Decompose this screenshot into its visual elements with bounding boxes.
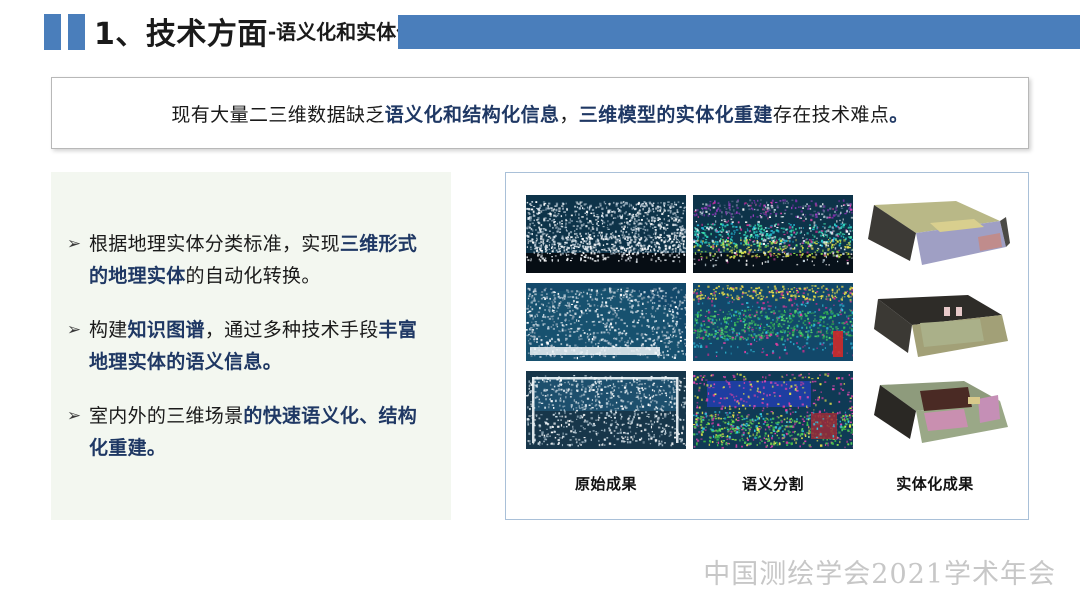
figure-thumb-entity-model xyxy=(860,195,1010,273)
bullet-arrow-icon: ➢ xyxy=(59,400,89,432)
title-accent-block-1 xyxy=(44,14,61,50)
bullet-arrow-icon: ➢ xyxy=(59,228,89,260)
figure-thumb-entity-model xyxy=(860,283,1010,361)
figure-caption-raw: 原始成果 xyxy=(526,473,686,494)
figure-caption-segmentation: 语义分割 xyxy=(693,473,853,494)
page-title-main: 1、技术方面 xyxy=(94,9,268,53)
bullet-text: 构建知识图谱，通过多种技术手段丰富地理实体的语义信息。 xyxy=(89,314,429,378)
figure-thumb-raw-pointcloud xyxy=(526,195,686,273)
page-title-sub: -语义化和实体化 xyxy=(268,16,416,47)
figure-panel: 原始成果 语义分割 实体化成果 xyxy=(505,172,1029,520)
figure-caption-row: 原始成果 语义分割 实体化成果 xyxy=(526,473,1010,494)
statement-segment-plain-2: ， xyxy=(559,104,578,126)
figure-thumb-entity-model xyxy=(860,371,1010,449)
slide-title-bar: 1、技术方面 -语义化和实体化 xyxy=(0,14,1080,50)
figure-thumb-raw-pointcloud xyxy=(526,371,686,449)
bullet-text: 室内外的三维场景的快速语义化、结构化重建。 xyxy=(89,400,429,464)
bullet-item: ➢根据地理实体分类标准，实现三维形式的地理实体的自动化转换。 xyxy=(59,228,429,292)
bullet-text: 根据地理实体分类标准，实现三维形式的地理实体的自动化转换。 xyxy=(89,228,429,292)
title-accent-block-2 xyxy=(68,14,85,50)
bullet-plain-segment: 室内外的三维场景 xyxy=(89,405,243,427)
figure-caption-entity: 实体化成果 xyxy=(860,473,1010,494)
figure-grid xyxy=(526,195,1010,449)
bullet-item: ➢室内外的三维场景的快速语义化、结构化重建。 xyxy=(59,400,429,464)
bullet-highlight-segment: 知识图谱 xyxy=(128,319,205,341)
statement-segment-highlight-2: 三维模型的实体化重建 xyxy=(579,104,773,126)
figure-thumb-raw-pointcloud xyxy=(526,283,686,361)
statement-segment-highlight-1: 语义化和结构化信息 xyxy=(385,104,560,126)
bullets-panel: ➢根据地理实体分类标准，实现三维形式的地理实体的自动化转换。➢构建知识图谱，通过… xyxy=(51,172,451,520)
bullet-plain-segment: 构建 xyxy=(89,319,128,341)
statement-segment-plain-1: 现有大量二三维数据缺乏 xyxy=(171,104,384,126)
statement-box: 现有大量二三维数据缺乏语义化和结构化信息，三维模型的实体化重建存在技术难点。 xyxy=(51,77,1029,149)
statement-text: 现有大量二三维数据缺乏语义化和结构化信息，三维模型的实体化重建存在技术难点。 xyxy=(171,100,908,127)
bullet-arrow-icon: ➢ xyxy=(59,314,89,346)
statement-segment-period: 。 xyxy=(889,104,908,126)
bullet-plain-segment: 根据地理实体分类标准，实现 xyxy=(89,233,340,255)
footer-conference-label: 中国测绘学会2021学术年会 xyxy=(703,552,1056,591)
figure-thumb-semantic-segmentation xyxy=(693,371,853,449)
figure-thumb-semantic-segmentation xyxy=(693,283,853,361)
bullet-item: ➢构建知识图谱，通过多种技术手段丰富地理实体的语义信息。 xyxy=(59,314,429,378)
bullet-plain-segment: ，通过多种技术手段 xyxy=(205,319,379,341)
slide: 1、技术方面 -语义化和实体化 现有大量二三维数据缺乏语义化和结构化信息，三维模… xyxy=(0,0,1080,607)
statement-segment-plain-3: 存在技术难点 xyxy=(773,104,889,126)
title-blue-banner xyxy=(398,15,1080,49)
bullet-plain-segment: 的自动化转换。 xyxy=(186,265,321,287)
page-title: 1、技术方面 -语义化和实体化 xyxy=(94,11,416,51)
figure-thumb-semantic-segmentation xyxy=(693,195,853,273)
